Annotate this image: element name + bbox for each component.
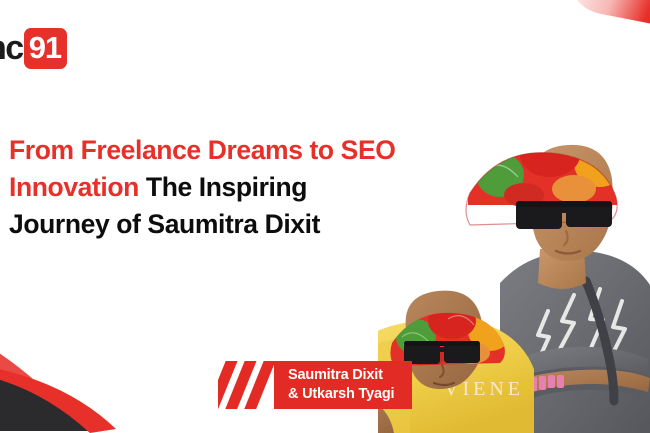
brand-logo-word: nc xyxy=(0,31,23,65)
corner-accent-decoration xyxy=(561,0,650,29)
speaker-name-plate: Saumitra Dixit & Utkarsh Tyagi xyxy=(274,361,412,409)
speaker-name-primary: Saumitra Dixit xyxy=(288,366,394,385)
brand-logo[interactable]: nc 91 xyxy=(0,28,67,68)
speaker-name-secondary: & Utkarsh Tyagi xyxy=(288,385,394,404)
speaker-name-banner: Saumitra Dixit & Utkarsh Tyagi xyxy=(218,361,412,409)
guest-photo: VIENE xyxy=(378,43,650,433)
swoosh-decoration xyxy=(0,343,210,433)
brand-logo-badge: 91 xyxy=(24,28,67,69)
promo-banner: nc 91 From Freelance Dreams to SEO Innov… xyxy=(0,0,650,433)
page-title: From Freelance Dreams to SEO Innovation … xyxy=(9,132,409,243)
diagonal-stripes-decoration xyxy=(218,361,274,409)
